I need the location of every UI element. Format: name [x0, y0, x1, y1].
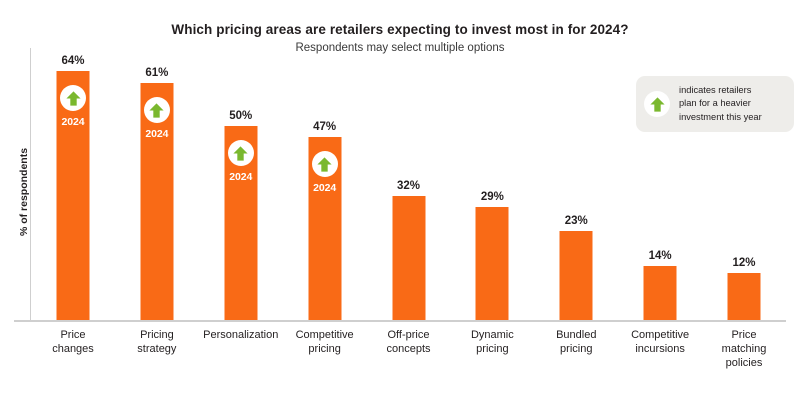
- bar-badge: 2024: [224, 140, 257, 183]
- category-label-line: Dynamic: [471, 329, 514, 341]
- category-label-line: policies: [726, 357, 763, 369]
- bar-badge: 2024: [57, 85, 90, 128]
- category-label-line: Personalization: [203, 329, 278, 341]
- chart-legend: indicates retailers plan for a heavier i…: [636, 76, 794, 132]
- bar[interactable]: [560, 231, 593, 320]
- bar-slot: 29%: [450, 48, 534, 320]
- category-label-line: Price: [731, 329, 756, 341]
- category-label-line: pricing: [476, 343, 508, 355]
- category-label: Pricechanges: [31, 328, 115, 356]
- category-label-line: Price: [60, 329, 85, 341]
- bar-slot: 202447%: [283, 48, 367, 320]
- category-label: Pricingstrategy: [115, 328, 199, 356]
- category-label-line: changes: [52, 343, 94, 355]
- badge-circle: [60, 85, 86, 111]
- category-label: Competitivepricing: [283, 328, 367, 356]
- category-label: Dynamicpricing: [450, 328, 534, 356]
- category-label: Competitiveincursions: [618, 328, 702, 356]
- bar-slot: 32%: [367, 48, 451, 320]
- bar-value-label: 12%: [732, 257, 755, 269]
- legend-line-2: plan for a heavier: [679, 98, 751, 108]
- legend-line-3: investment this year: [679, 112, 762, 122]
- bar[interactable]: [476, 207, 509, 320]
- badge-circle: [312, 151, 338, 177]
- bar-value-label: 61%: [145, 67, 168, 79]
- category-label-line: concepts: [386, 343, 430, 355]
- badge-circle: [144, 97, 170, 123]
- bar-value-label: 14%: [649, 250, 672, 262]
- category-axis-labels: PricechangesPricingstrategyPersonalizati…: [31, 328, 786, 392]
- category-label-line: Competitive: [631, 329, 689, 341]
- category-label: Personalization: [199, 328, 283, 342]
- bar[interactable]: 2024: [308, 137, 341, 320]
- up-arrow-icon: [649, 96, 666, 113]
- up-arrow-icon: [65, 90, 82, 107]
- badge-year-label: 2024: [57, 116, 90, 128]
- bar-badge: 2024: [140, 97, 173, 140]
- bar[interactable]: [728, 273, 761, 320]
- legend-badge: [644, 91, 670, 117]
- category-label: Pricematchingpolicies: [702, 328, 786, 370]
- badge-circle: [228, 140, 254, 166]
- bar[interactable]: [644, 266, 677, 320]
- badge-year-label: 2024: [140, 128, 173, 140]
- bar-value-label: 23%: [565, 215, 588, 227]
- badge-year-label: 2024: [308, 182, 341, 194]
- category-label-line: Off-price: [388, 329, 430, 341]
- category-label-line: matching: [722, 343, 767, 355]
- bar-chart: Which pricing areas are retailers expect…: [0, 0, 800, 400]
- bar-value-label: 50%: [229, 110, 252, 122]
- bar-value-label: 29%: [481, 191, 504, 203]
- bar[interactable]: [392, 196, 425, 320]
- bar[interactable]: 2024: [140, 83, 173, 320]
- category-label-line: pricing: [308, 343, 340, 355]
- badge-year-label: 2024: [224, 171, 257, 183]
- category-label-line: Bundled: [556, 329, 596, 341]
- chart-title: Which pricing areas are retailers expect…: [0, 22, 800, 39]
- bar[interactable]: 2024: [57, 71, 90, 320]
- up-arrow-icon: [316, 156, 333, 173]
- category-label-line: strategy: [137, 343, 176, 355]
- category-label: Bundledpricing: [534, 328, 618, 356]
- up-arrow-icon: [148, 102, 165, 119]
- bar-value-label: 32%: [397, 180, 420, 192]
- category-label-line: incursions: [635, 343, 685, 355]
- legend-line-1: indicates retailers: [679, 85, 751, 95]
- category-label: Off-priceconcepts: [367, 328, 451, 356]
- category-label-line: pricing: [560, 343, 592, 355]
- bar-slot: 23%: [534, 48, 618, 320]
- legend-text: indicates retailers plan for a heavier i…: [679, 84, 762, 124]
- bar-value-label: 64%: [61, 55, 84, 67]
- y-axis-label: % of respondents: [18, 122, 30, 262]
- x-axis-line: [14, 320, 786, 322]
- bar-value-label: 47%: [313, 121, 336, 133]
- up-arrow-icon: [232, 145, 249, 162]
- category-label-line: Competitive: [296, 329, 354, 341]
- bar-slot: 202450%: [199, 48, 283, 320]
- category-label-line: Pricing: [140, 329, 174, 341]
- bar[interactable]: 2024: [224, 126, 257, 320]
- bar-slot: 202461%: [115, 48, 199, 320]
- bar-slot: 202464%: [31, 48, 115, 320]
- bar-badge: 2024: [308, 151, 341, 194]
